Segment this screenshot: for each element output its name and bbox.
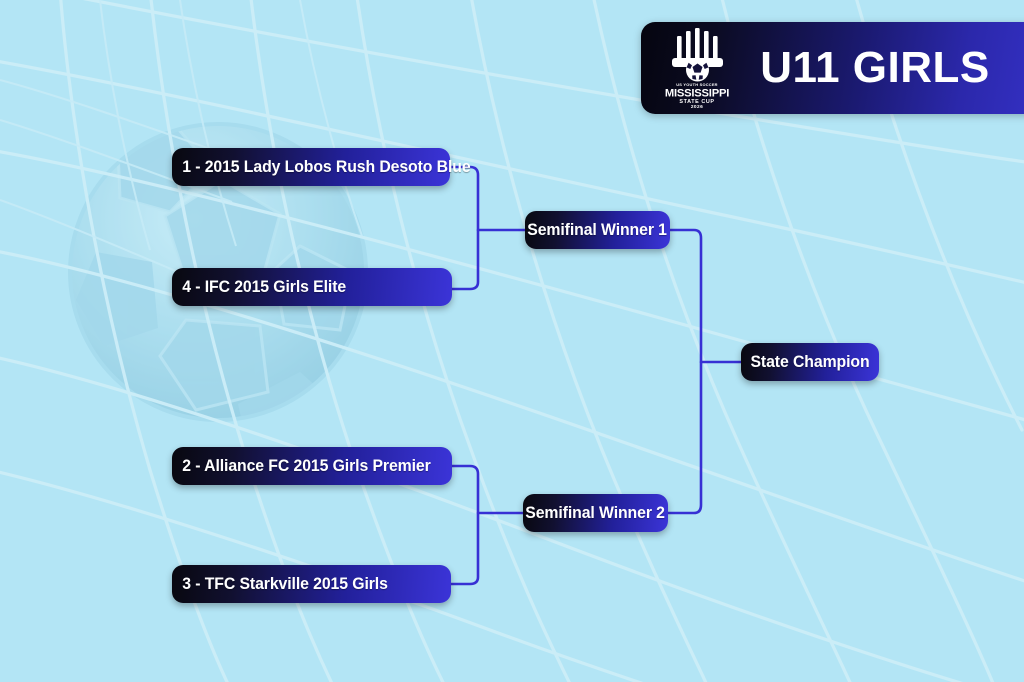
bracket-slot-seed-2[interactable]: 2 - Alliance FC 2015 Girls Premier — [172, 447, 452, 485]
connector-sf2 — [451, 466, 478, 584]
logo-year-line: 2026 — [691, 104, 703, 108]
bracket-page: US YOUTH SOCCER MISSISSIPPI STATE CUP 20… — [0, 0, 1024, 682]
bracket-slot-label: Semifinal Winner 2 — [526, 503, 666, 523]
bracket-slot-label: 2 - Alliance FC 2015 Girls Premier — [172, 456, 431, 476]
bracket-slot-seed-4[interactable]: 4 - IFC 2015 Girls Elite — [172, 268, 452, 306]
logo-event-line: STATE CUP — [679, 99, 714, 105]
bracket-slot-state-champion[interactable]: State Champion — [741, 343, 879, 381]
connector-sf1 — [451, 167, 478, 289]
bracket-slot-semifinal-winner-2[interactable]: Semifinal Winner 2 — [523, 494, 668, 532]
bracket-slot-label: State Champion — [750, 352, 869, 372]
bracket-slot-label: 3 - TFC Starkville 2015 Girls — [172, 574, 388, 594]
soccer-ball-icon — [686, 59, 709, 82]
header-banner: US YOUTH SOCCER MISSISSIPPI STATE CUP 20… — [641, 22, 1024, 114]
bracket-slot-label: 4 - IFC 2015 Girls Elite — [172, 277, 346, 297]
connector-final — [668, 230, 701, 513]
logo-state-line: MISSISSIPPI — [665, 88, 729, 100]
bracket-slot-label: 1 - 2015 Lady Lobos Rush Desoto Blue — [172, 157, 471, 177]
page-title: U11 GIRLS — [739, 43, 1024, 93]
bracket-slot-label: Semifinal Winner 1 — [528, 220, 668, 240]
mississippi-state-cup-logo: US YOUTH SOCCER MISSISSIPPI STATE CUP 20… — [655, 28, 739, 108]
logo-org-line: US YOUTH SOCCER — [676, 82, 718, 87]
bracket-slot-semifinal-winner-1[interactable]: Semifinal Winner 1 — [525, 211, 670, 249]
bracket-slot-seed-3[interactable]: 3 - TFC Starkville 2015 Girls — [172, 565, 451, 603]
bracket-slot-seed-1[interactable]: 1 - 2015 Lady Lobos Rush Desoto Blue — [172, 148, 450, 186]
